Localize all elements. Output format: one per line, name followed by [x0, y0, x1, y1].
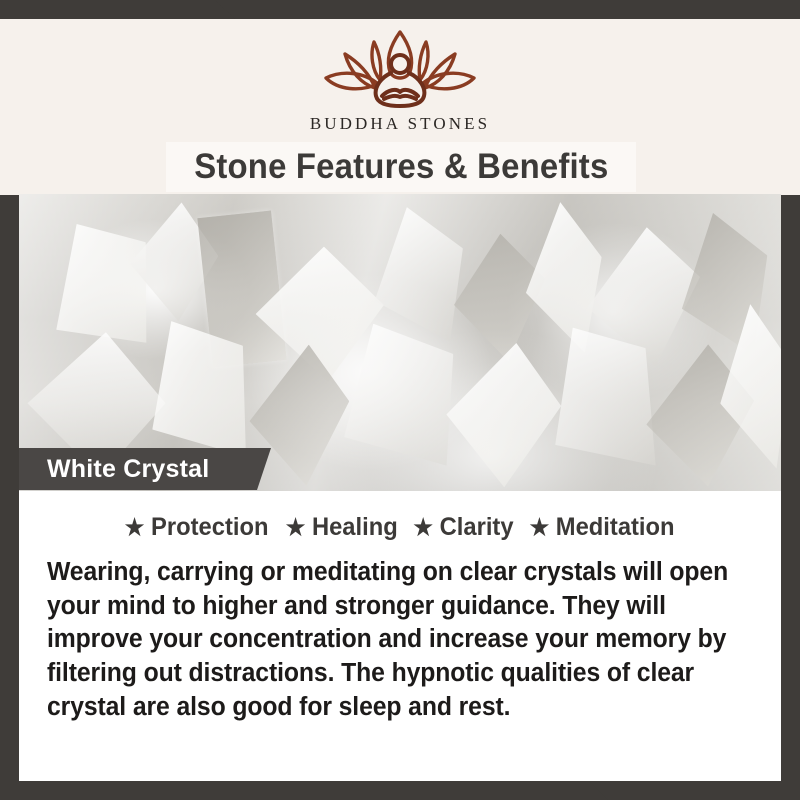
star-icon: ★: [530, 516, 550, 539]
benefit-item-healing: ★ Healing: [276, 513, 398, 542]
description-text: Wearing, carrying or meditating on clear…: [47, 556, 734, 724]
page-title: Stone Features & Benefits: [194, 147, 608, 187]
benefit-label: Healing: [312, 513, 398, 542]
stone-name-label: White Crystal: [47, 455, 209, 484]
benefit-item-protection: ★ Protection: [125, 513, 269, 542]
star-icon: ★: [413, 516, 433, 539]
crystal-photo: [19, 194, 781, 491]
benefit-item-clarity: ★ Clarity: [403, 513, 513, 542]
brand-name: BUDDHA STONES: [310, 114, 490, 134]
benefit-label: Protection: [151, 513, 268, 542]
benefit-label: Clarity: [439, 513, 513, 542]
benefits-list: ★ Protection ★ Healing ★ Clarity ★ Medit…: [19, 491, 781, 542]
content-panel: ★ Protection ★ Healing ★ Clarity ★ Medit…: [19, 491, 781, 781]
benefit-item-meditation: ★ Meditation: [520, 513, 674, 542]
brand-logo: [310, 25, 490, 113]
stone-name-badge: White Crystal: [19, 448, 271, 490]
page-title-band: Stone Features & Benefits: [166, 142, 636, 192]
star-icon: ★: [125, 516, 145, 539]
benefit-label: Meditation: [556, 513, 675, 542]
lotus-meditation-figure-icon: [312, 26, 488, 112]
poster-root: BUDDHA STONES White Crystal Stone F: [0, 0, 800, 800]
crystal-photo-image: [19, 194, 781, 491]
star-icon: ★: [285, 516, 305, 539]
